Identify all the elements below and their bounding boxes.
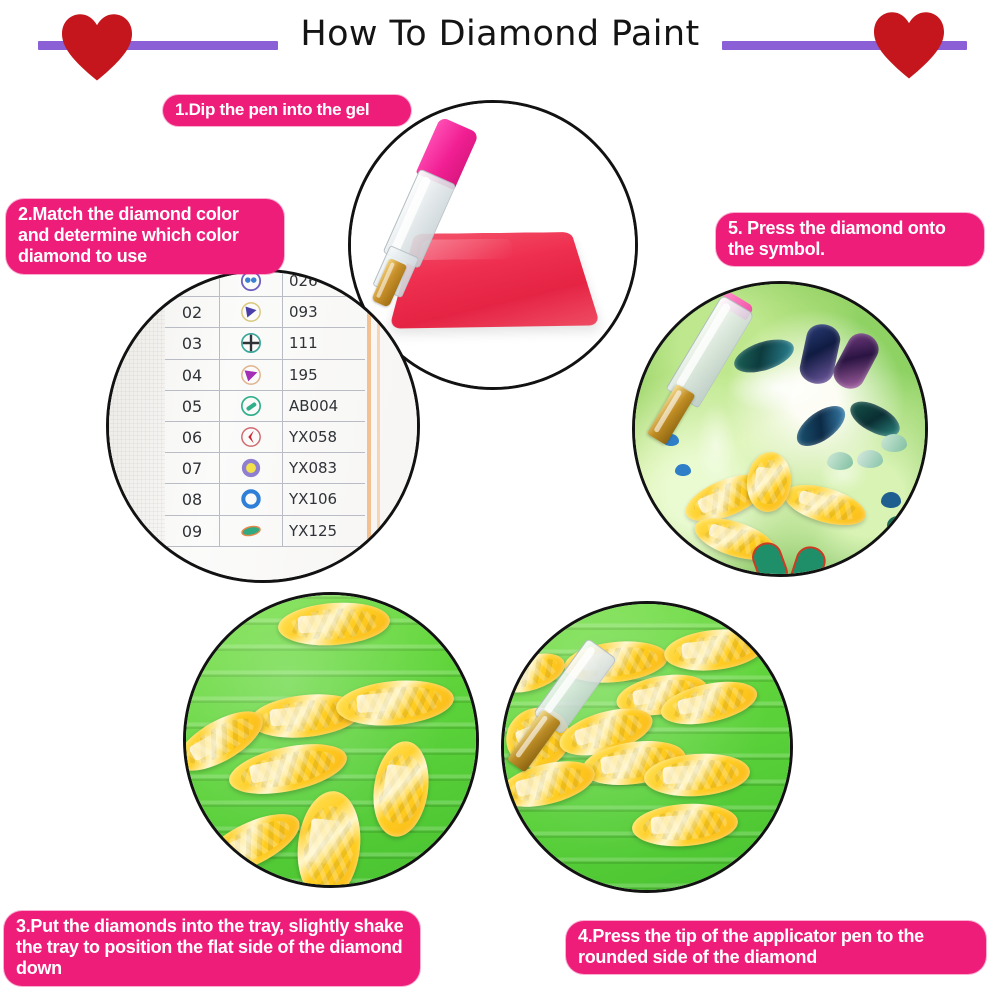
- step-1-label: 1.Dip the pen into the gel: [163, 95, 411, 126]
- chart-stripe: [377, 272, 380, 580]
- step-2-label: 2.Match the diamond color and determine …: [6, 199, 284, 274]
- table-row: 02 093: [165, 297, 365, 328]
- cell-code: YX106: [283, 490, 365, 508]
- step-2-photo: 026 02 093 03: [106, 269, 420, 583]
- table-row: 09 YX125: [165, 516, 365, 547]
- step-3-label: 3.Put the diamonds into the tray, slight…: [4, 911, 420, 986]
- header: How To Diamond Paint: [0, 0, 1000, 86]
- arrow-symbol: [240, 426, 262, 448]
- canvas-edge: [109, 272, 165, 580]
- triangle-symbol: [240, 364, 262, 386]
- cell-code: 093: [283, 303, 365, 321]
- cell-symbol: [220, 516, 283, 546]
- cell-code: YX125: [283, 522, 365, 540]
- step-5-label: 5. Press the diamond onto the symbol.: [716, 213, 984, 266]
- cell-symbol: [220, 453, 283, 483]
- table-row: 08 YX106: [165, 484, 365, 515]
- cell-number: 07: [165, 453, 220, 483]
- cell-number: 03: [165, 328, 220, 358]
- cell-number: 09: [165, 516, 220, 546]
- ring-symbol: [240, 488, 262, 510]
- step-3-photo: [183, 592, 479, 888]
- cell-symbol: [220, 422, 283, 452]
- cell-symbol: [220, 297, 283, 327]
- triangle-symbol: [240, 301, 262, 323]
- table-row: 05 AB004: [165, 391, 365, 422]
- cell-code: YX083: [283, 459, 365, 477]
- cell-number: 04: [165, 360, 220, 390]
- cell-number: 06: [165, 422, 220, 452]
- cell-symbol: [220, 360, 283, 390]
- cell-code: 026: [283, 272, 365, 290]
- cell-code: AB004: [283, 397, 365, 415]
- table-row: 06 YX058: [165, 422, 365, 453]
- symbol-chart-table: 026 02 093 03: [165, 269, 365, 547]
- cell-number: 05: [165, 391, 220, 421]
- cell-code: 195: [283, 366, 365, 384]
- step-4-label: 4.Press the tip of the applicator pen to…: [566, 921, 986, 974]
- cell-code: 111: [283, 334, 365, 352]
- slash-symbol: [240, 395, 262, 417]
- cell-symbol: [220, 328, 283, 358]
- table-row: 04 195: [165, 360, 365, 391]
- step-5-photo: [632, 281, 928, 577]
- cell-number: 08: [165, 484, 220, 514]
- cell-number: 02: [165, 297, 220, 327]
- infographic-canvas: How To Diamond Paint: [0, 0, 1000, 1000]
- cell-symbol: [220, 484, 283, 514]
- cell-code: YX058: [283, 428, 365, 446]
- chart-stripe: [367, 272, 371, 580]
- leaf-symbol: [240, 520, 262, 542]
- table-row: 03 111: [165, 328, 365, 359]
- step-4-photo: [501, 601, 793, 893]
- cell-symbol: [220, 391, 283, 421]
- dot-symbol: [240, 457, 262, 479]
- plus-symbol: [240, 332, 262, 354]
- page-title: How To Diamond Paint: [0, 14, 1000, 54]
- table-row: 07 YX083: [165, 453, 365, 484]
